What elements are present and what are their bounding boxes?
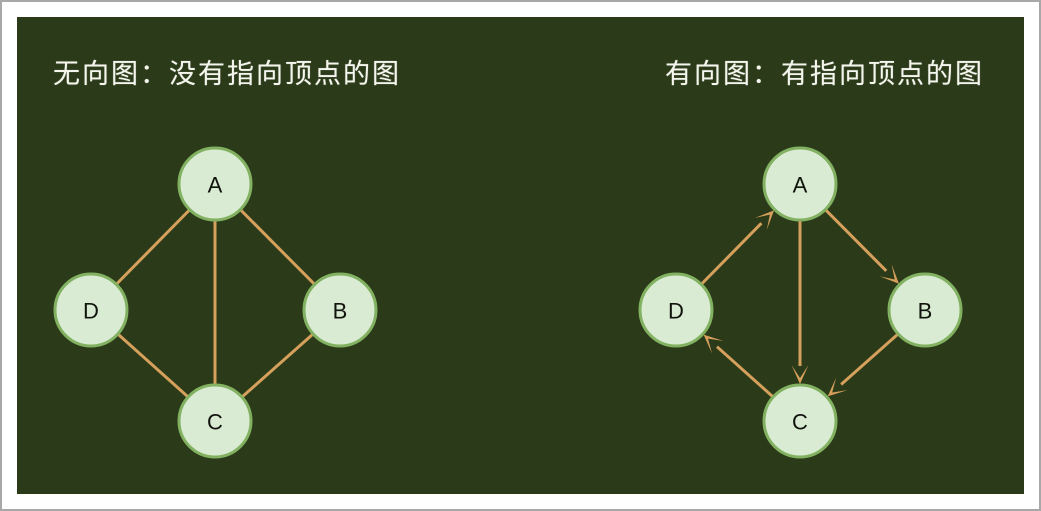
undirected-graph-title: 无向图：没有指向顶点的图: [53, 57, 401, 91]
screenshot-root: 无向图：没有指向顶点的图 有向图：有指向顶点的图 ABCDABCD: [0, 0, 1041, 511]
directed-graph-title: 有向图：有指向顶点的图: [665, 57, 984, 91]
diagram-panel: 无向图：没有指向顶点的图 有向图：有指向顶点的图: [17, 17, 1024, 494]
